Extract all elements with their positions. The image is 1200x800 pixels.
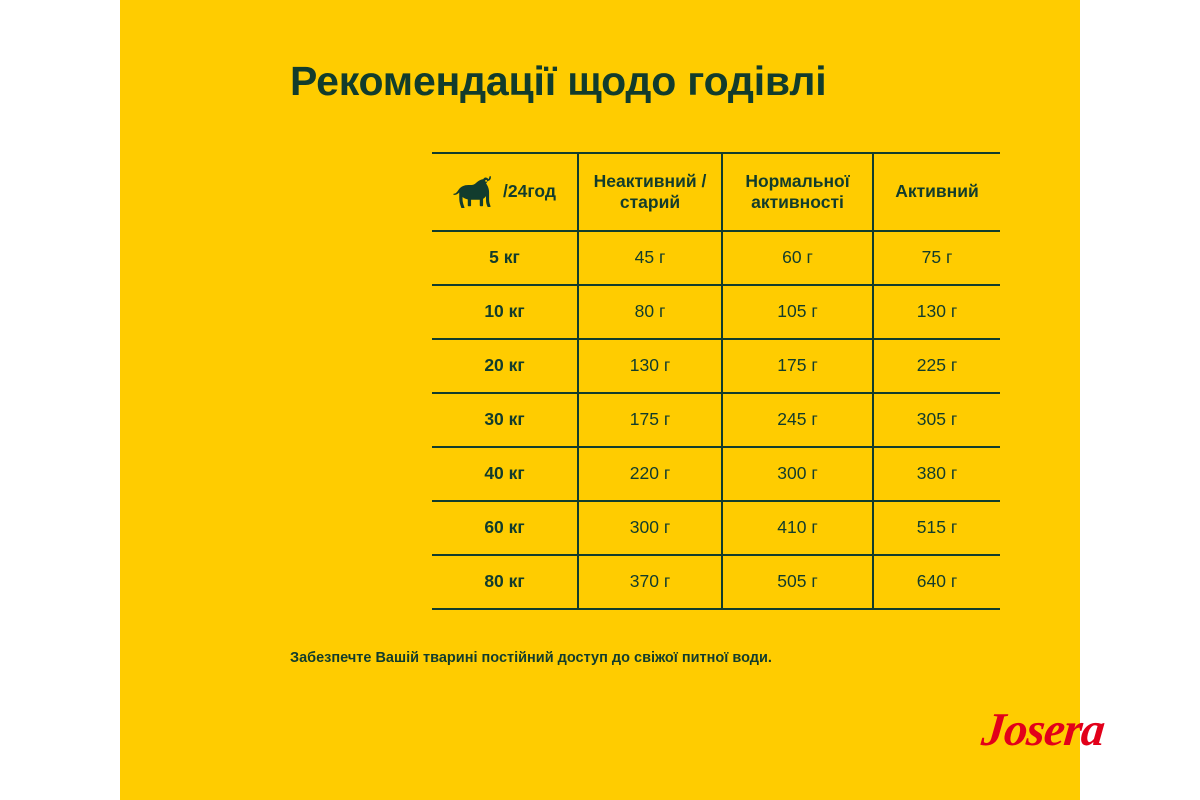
header-label-normal-line2: активності [751, 192, 844, 212]
cell-inactive: 80 г [578, 285, 722, 339]
dog-icon [453, 176, 501, 208]
cell-normal: 60 г [722, 231, 873, 285]
cell-normal: 410 г [722, 501, 873, 555]
header-label-active: Активний [895, 181, 979, 201]
cell-weight: 80 кг [432, 555, 578, 609]
cell-inactive: 175 г [578, 393, 722, 447]
table-header-row: /24год Неактивний / старий Нормальної ак… [432, 153, 1000, 231]
josera-logo: Josera [982, 704, 1152, 756]
feeding-table: /24год Неактивний / старий Нормальної ак… [432, 152, 1000, 610]
table-row: 5 кг 45 г 60 г 75 г [432, 231, 1000, 285]
cell-normal: 245 г [722, 393, 873, 447]
josera-logo-text: Josera [979, 704, 1106, 756]
header-label-per-24h: /24год [503, 181, 556, 202]
header-label-normal-line1: Нормальної [745, 171, 849, 191]
table-row: 40 кг 220 г 300 г 380 г [432, 447, 1000, 501]
cell-active: 305 г [873, 393, 1000, 447]
table-row: 80 кг 370 г 505 г 640 г [432, 555, 1000, 609]
cell-inactive: 220 г [578, 447, 722, 501]
water-access-note: Забезпечте Вашій тварині постійний досту… [290, 650, 772, 666]
cell-weight: 10 кг [432, 285, 578, 339]
header-cell-weight: /24год [432, 153, 578, 231]
cell-active: 515 г [873, 501, 1000, 555]
cell-weight: 20 кг [432, 339, 578, 393]
cell-active: 130 г [873, 285, 1000, 339]
cell-normal: 175 г [722, 339, 873, 393]
cell-weight: 40 кг [432, 447, 578, 501]
table-body: 5 кг 45 г 60 г 75 г 10 кг 80 г 105 г 130… [432, 231, 1000, 609]
table-row: 20 кг 130 г 175 г 225 г [432, 339, 1000, 393]
table-row: 60 кг 300 г 410 г 515 г [432, 501, 1000, 555]
dog-per-24h-group: /24год [432, 176, 577, 208]
header-label-inactive-line1: Неактивний / [594, 171, 707, 191]
cell-inactive: 370 г [578, 555, 722, 609]
cell-weight: 30 кг [432, 393, 578, 447]
cell-normal: 105 г [722, 285, 873, 339]
feeding-table-container: /24год Неактивний / старий Нормальної ак… [432, 152, 1000, 610]
header-cell-normal: Нормальної активності [722, 153, 873, 231]
cell-active: 640 г [873, 555, 1000, 609]
cell-active: 225 г [873, 339, 1000, 393]
cell-normal: 300 г [722, 447, 873, 501]
header-cell-inactive: Неактивний / старий [578, 153, 722, 231]
yellow-panel: Рекомендації щодо годівлі [120, 0, 1080, 800]
cell-active: 380 г [873, 447, 1000, 501]
cell-inactive: 45 г [578, 231, 722, 285]
table-header: /24год Неактивний / старий Нормальної ак… [432, 153, 1000, 231]
cell-weight: 60 кг [432, 501, 578, 555]
cell-inactive: 300 г [578, 501, 722, 555]
cell-normal: 505 г [722, 555, 873, 609]
table-row: 30 кг 175 г 245 г 305 г [432, 393, 1000, 447]
page-title: Рекомендації щодо годівлі [290, 58, 826, 105]
header-cell-active: Активний [873, 153, 1000, 231]
cell-active: 75 г [873, 231, 1000, 285]
cell-weight: 5 кг [432, 231, 578, 285]
cell-inactive: 130 г [578, 339, 722, 393]
table-row: 10 кг 80 г 105 г 130 г [432, 285, 1000, 339]
header-label-inactive-line2: старий [620, 192, 680, 212]
feeding-recommendation-page: Рекомендації щодо годівлі [0, 0, 1200, 800]
